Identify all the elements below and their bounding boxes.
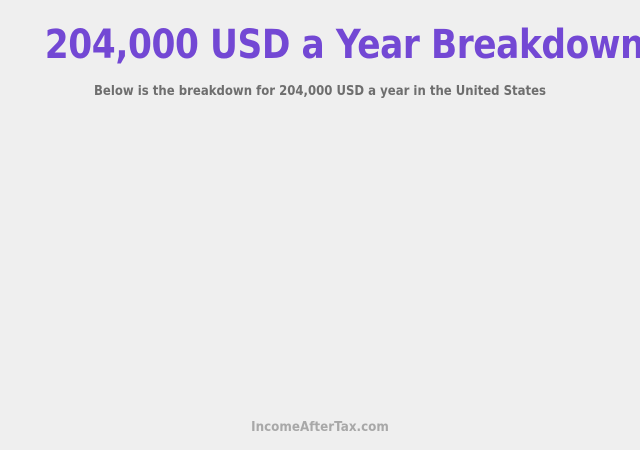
page-title: 204,000 USD a Year Breakdown	[45, 22, 595, 68]
page-subtitle: Below is the breakdown for 204,000 USD a…	[32, 84, 608, 100]
income-breakdown-figure: 204,000 USD a Year Breakdown Below is th…	[0, 0, 640, 450]
footer-watermark: IncomeAfterTax.com	[26, 420, 615, 436]
chart-plot-area	[0, 112, 640, 408]
